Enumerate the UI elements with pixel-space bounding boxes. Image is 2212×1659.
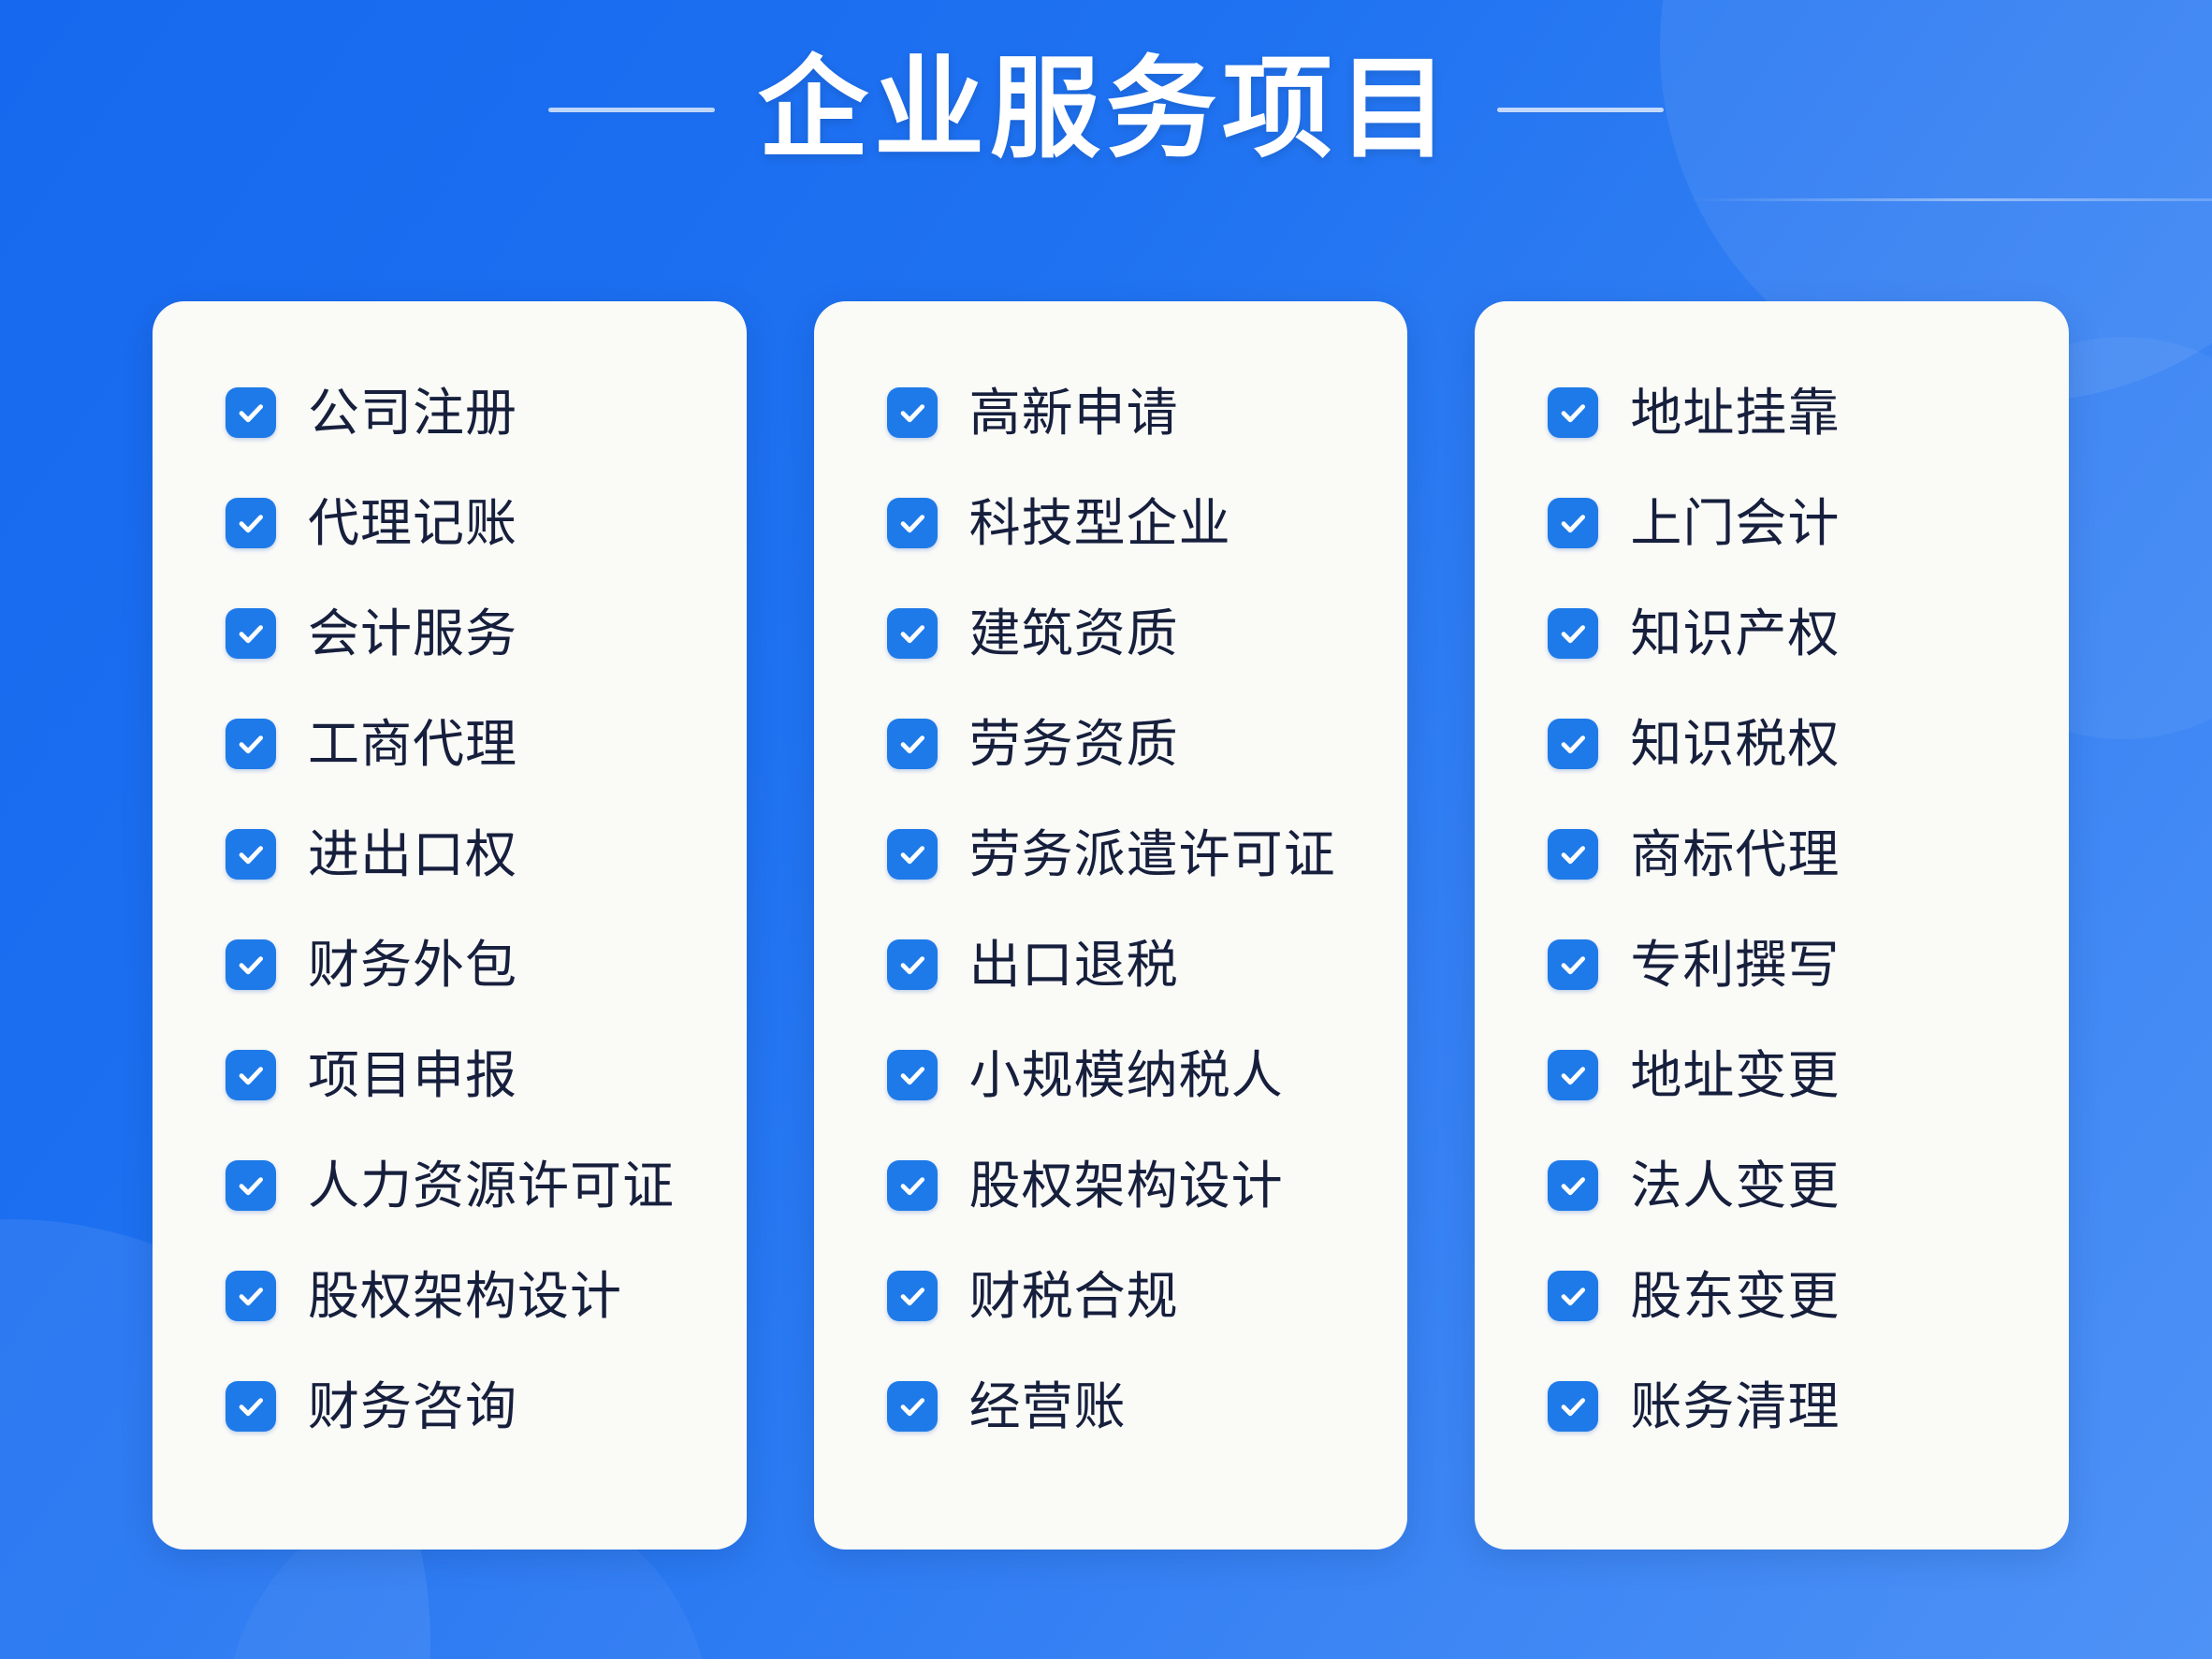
service-item-label: 财务咨询 [308, 1379, 517, 1433]
service-card-column-3: 地址挂靠 上门会计 知识产权 知识税权 商标代理 [1475, 301, 2069, 1550]
service-item-label: 上门会计 [1630, 496, 1840, 550]
service-list-column-2: 高新申请 科技型企业 建筑资质 劳务资质 劳务派遣许可证 [814, 357, 1408, 1462]
service-item-label: 人力资源许可证 [308, 1158, 675, 1213]
check-icon[interactable] [887, 1050, 938, 1100]
service-item[interactable]: 科技型企业 [887, 468, 1386, 578]
service-item-label: 经营账 [969, 1379, 1127, 1433]
service-item[interactable]: 高新申请 [887, 357, 1386, 468]
check-icon[interactable] [1548, 1160, 1598, 1211]
page-header: 企业服务项目 [0, 39, 2212, 180]
service-item[interactable]: 法人变更 [1548, 1130, 2046, 1241]
check-icon[interactable] [1548, 939, 1598, 990]
service-item-label: 代理记账 [308, 496, 517, 550]
service-item[interactable]: 知识产权 [1548, 578, 2046, 689]
service-card-column-1: 公司注册 代理记账 会计服务 工商代理 进出口权 [153, 301, 747, 1550]
service-item-label: 科技型企业 [969, 496, 1231, 550]
service-item-label: 账务清理 [1630, 1379, 1840, 1433]
service-item-label: 建筑资质 [969, 606, 1179, 661]
service-item[interactable]: 账务清理 [1548, 1351, 2046, 1462]
service-card-group: 公司注册 代理记账 会计服务 工商代理 进出口权 [153, 301, 2069, 1550]
service-item[interactable]: 公司注册 [226, 357, 724, 468]
check-icon[interactable] [226, 719, 276, 769]
service-card-column-2: 高新申请 科技型企业 建筑资质 劳务资质 劳务派遣许可证 [814, 301, 1408, 1550]
service-item-label: 地址变更 [1630, 1048, 1840, 1102]
check-icon[interactable] [1548, 608, 1598, 659]
title-rule-left [548, 108, 715, 112]
service-item[interactable]: 会计服务 [226, 578, 724, 689]
check-icon[interactable] [1548, 1271, 1598, 1321]
check-icon[interactable] [887, 719, 938, 769]
service-item-label: 地址挂靠 [1630, 386, 1840, 440]
check-icon[interactable] [1548, 498, 1598, 548]
check-icon[interactable] [226, 387, 276, 438]
service-item-label: 工商代理 [308, 717, 517, 771]
service-item[interactable]: 专利撰写 [1548, 910, 2046, 1020]
check-icon[interactable] [226, 829, 276, 880]
service-item[interactable]: 股权架构设计 [226, 1241, 724, 1351]
service-item-label: 劳务资质 [969, 717, 1179, 771]
check-icon[interactable] [887, 1271, 938, 1321]
check-icon[interactable] [226, 1160, 276, 1211]
service-item[interactable]: 财务外包 [226, 910, 724, 1020]
service-list-column-3: 地址挂靠 上门会计 知识产权 知识税权 商标代理 [1475, 357, 2069, 1462]
service-item-label: 高新申请 [969, 386, 1179, 440]
service-item-label: 知识税权 [1630, 717, 1840, 771]
check-icon[interactable] [226, 1050, 276, 1100]
service-item[interactable]: 上门会计 [1548, 468, 2046, 578]
check-icon[interactable] [226, 1271, 276, 1321]
service-item[interactable]: 进出口权 [226, 799, 724, 910]
check-icon[interactable] [1548, 829, 1598, 880]
service-item-label: 股权架构设计 [969, 1158, 1284, 1213]
check-icon[interactable] [226, 1381, 276, 1432]
service-item[interactable]: 经营账 [887, 1351, 1386, 1462]
service-item[interactable]: 出口退税 [887, 910, 1386, 1020]
service-item-label: 小规模纳税人 [969, 1048, 1284, 1102]
service-item-label: 财务外包 [308, 938, 517, 992]
check-icon[interactable] [887, 387, 938, 438]
service-item[interactable]: 劳务派遣许可证 [887, 799, 1386, 910]
check-icon[interactable] [887, 608, 938, 659]
service-item-label: 知识产权 [1630, 606, 1840, 661]
check-icon[interactable] [226, 498, 276, 548]
check-icon[interactable] [887, 498, 938, 548]
check-icon[interactable] [887, 1381, 938, 1432]
service-item-label: 商标代理 [1630, 827, 1840, 881]
check-icon[interactable] [226, 939, 276, 990]
title-rule-right [1497, 108, 1664, 112]
check-icon[interactable] [1548, 1050, 1598, 1100]
check-icon[interactable] [887, 1160, 938, 1211]
service-item[interactable]: 商标代理 [1548, 799, 2046, 910]
service-item[interactable]: 人力资源许可证 [226, 1130, 724, 1241]
service-item-label: 项目申报 [308, 1048, 517, 1102]
service-item-label: 出口退税 [969, 938, 1179, 992]
check-icon[interactable] [887, 939, 938, 990]
service-item[interactable]: 地址变更 [1548, 1020, 2046, 1130]
service-item-label: 劳务派遣许可证 [969, 827, 1336, 881]
service-item[interactable]: 财税合规 [887, 1241, 1386, 1351]
check-icon[interactable] [1548, 387, 1598, 438]
service-item[interactable]: 劳务资质 [887, 689, 1386, 799]
service-item[interactable]: 地址挂靠 [1548, 357, 2046, 468]
service-item-label: 会计服务 [308, 606, 517, 661]
page-title: 企业服务项目 [758, 54, 1454, 165]
decorative-streak-line [1688, 198, 2212, 201]
service-item[interactable]: 项目申报 [226, 1020, 724, 1130]
check-icon[interactable] [226, 608, 276, 659]
service-item-label: 财税合规 [969, 1269, 1179, 1323]
service-item-label: 进出口权 [308, 827, 517, 881]
service-item[interactable]: 股权架构设计 [887, 1130, 1386, 1241]
service-item[interactable]: 工商代理 [226, 689, 724, 799]
service-item[interactable]: 财务咨询 [226, 1351, 724, 1462]
service-item-label: 股东变更 [1630, 1269, 1840, 1323]
service-item[interactable]: 股东变更 [1548, 1241, 2046, 1351]
service-item-label: 股权架构设计 [308, 1269, 622, 1323]
service-item-label: 公司注册 [308, 386, 517, 440]
service-item[interactable]: 小规模纳税人 [887, 1020, 1386, 1130]
check-icon[interactable] [887, 829, 938, 880]
service-list-column-1: 公司注册 代理记账 会计服务 工商代理 进出口权 [153, 357, 747, 1462]
service-item[interactable]: 代理记账 [226, 468, 724, 578]
check-icon[interactable] [1548, 1381, 1598, 1432]
service-item-label: 法人变更 [1630, 1158, 1840, 1213]
service-item-label: 专利撰写 [1630, 938, 1840, 992]
check-icon[interactable] [1548, 719, 1598, 769]
poster-canvas: 企业服务项目 公司注册 代理记账 会计服务 工商代理 [0, 0, 2212, 1659]
service-item[interactable]: 知识税权 [1548, 689, 2046, 799]
service-item[interactable]: 建筑资质 [887, 578, 1386, 689]
